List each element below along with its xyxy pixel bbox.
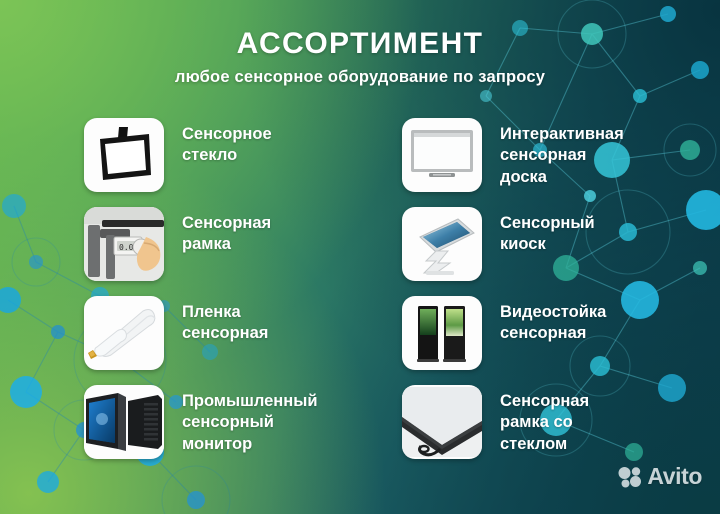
- industrial-monitor-card[interactable]: [84, 385, 164, 459]
- touch-kiosk-icon: [406, 211, 478, 277]
- frame-with-glass-card[interactable]: [402, 385, 482, 459]
- list-item-label: Сенсорное стекло: [182, 118, 272, 167]
- interactive-whiteboard-icon: [407, 126, 477, 184]
- touch-glass-card[interactable]: [84, 118, 164, 192]
- touch-glass-icon: [91, 125, 157, 185]
- list-item[interactable]: Пленка сенсорная: [84, 296, 402, 385]
- avito-watermark: Avito: [618, 463, 702, 490]
- product-column-right: Интерактивная сенсорная доска: [402, 118, 720, 474]
- list-item[interactable]: 0.0 Сенсорная рамка: [84, 207, 402, 296]
- list-item[interactable]: Промышленный сенсорный монитор: [84, 385, 402, 474]
- video-stand-icon: [409, 300, 475, 366]
- touch-film-icon: [87, 301, 161, 365]
- industrial-monitor-icon: [84, 389, 164, 455]
- list-item-label: Сенсорная рамка: [182, 207, 271, 256]
- promo-banner: АССОРТИМЕНТ любое сенсорное оборудование…: [0, 0, 720, 514]
- frame-with-glass-icon: [402, 387, 482, 457]
- list-item[interactable]: Интерактивная сенсорная доска: [402, 118, 720, 207]
- touch-film-card[interactable]: [84, 296, 164, 370]
- list-item[interactable]: Сенсорная рамка со стеклом: [402, 385, 720, 474]
- svg-text:0.0: 0.0: [119, 243, 134, 252]
- page-subtitle: любое сенсорное оборудование по запросу: [0, 68, 720, 87]
- list-item-label: Интерактивная сенсорная доска: [500, 118, 624, 188]
- product-grid: Сенсорное стекло 0.0: [0, 118, 720, 474]
- touch-frame-caliper-icon: 0.0: [84, 207, 164, 281]
- list-item[interactable]: Видеостойка сенсорная: [402, 296, 720, 385]
- list-item-label: Пленка сенсорная: [182, 296, 268, 345]
- list-item-label: Промышленный сенсорный монитор: [182, 385, 317, 455]
- list-item-label: Сенсорный киоск: [500, 207, 595, 256]
- list-item-label: Видеостойка сенсорная: [500, 296, 606, 345]
- banner-header: АССОРТИМЕНТ любое сенсорное оборудование…: [0, 28, 720, 87]
- touch-kiosk-card[interactable]: [402, 207, 482, 281]
- avito-dots-logo: [618, 466, 642, 488]
- product-column-left: Сенсорное стекло 0.0: [0, 118, 402, 474]
- touch-frame-card[interactable]: 0.0: [84, 207, 164, 281]
- page-title: АССОРТИМЕНТ: [0, 28, 720, 60]
- list-item[interactable]: Сенсорный киоск: [402, 207, 720, 296]
- list-item-label: Сенсорная рамка со стеклом: [500, 385, 589, 455]
- interactive-whiteboard-card[interactable]: [402, 118, 482, 192]
- video-stand-card[interactable]: [402, 296, 482, 370]
- avito-wordmark: Avito: [647, 463, 702, 490]
- list-item[interactable]: Сенсорное стекло: [84, 118, 402, 207]
